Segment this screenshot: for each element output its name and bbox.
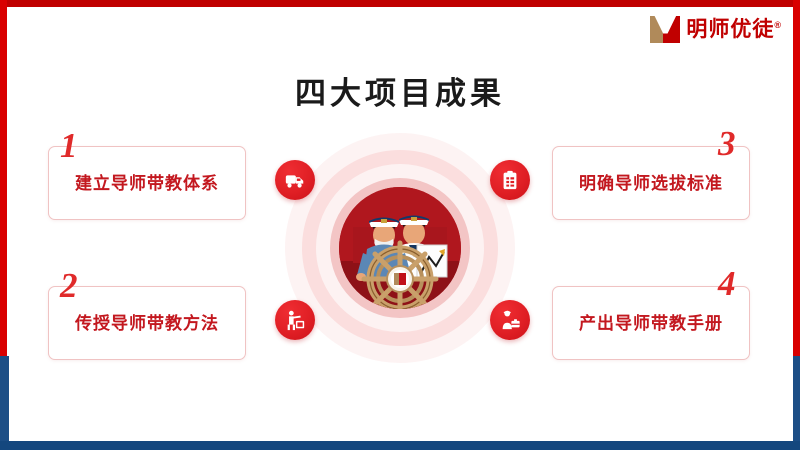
result-card-1-label: 建立导师带教体系 [49, 169, 245, 194]
result-card-4-label: 产出导师带教手册 [553, 309, 749, 334]
bus-icon [284, 169, 306, 191]
result-card-3-label: 明确导师选拔标准 [553, 169, 749, 194]
registered-mark: ® [774, 20, 782, 30]
brand-logo: 明师优徒® [644, 7, 788, 51]
clipboard-icon [499, 169, 521, 191]
icon-badge-clipboard[interactable] [490, 160, 530, 200]
result-card-3-number: 3 [718, 126, 736, 161]
helm-photo-icon [339, 187, 461, 309]
frame-border-top [0, 0, 800, 7]
lm-monogram-icon [650, 16, 680, 43]
person-briefcase-icon [499, 309, 521, 331]
brand-name-text: 明师优徒 [686, 18, 774, 41]
brand-name: 明师优徒® [686, 19, 782, 40]
result-card-2-number: 2 [60, 268, 78, 303]
slide-canvas: 明师优徒® 四大项目成果 [0, 0, 800, 450]
frame-border-bottom [0, 441, 800, 450]
result-card-1-number: 1 [60, 128, 78, 163]
result-card-4-number: 4 [718, 266, 736, 301]
frame-border-left-red [0, 0, 7, 356]
center-graphic [285, 133, 515, 363]
frame-border-right-navy [793, 356, 800, 450]
result-card-1[interactable]: 建立导师带教体系 [48, 146, 246, 220]
frame-border-left-navy [0, 356, 9, 450]
icon-badge-presenter[interactable] [275, 300, 315, 340]
icon-badge-bus[interactable] [275, 160, 315, 200]
presenter-icon [284, 309, 306, 331]
icon-badge-person-briefcase[interactable] [490, 300, 530, 340]
page-title: 四大项目成果 [0, 68, 800, 113]
frame-border-right-red [793, 0, 800, 356]
result-card-2-label: 传授导师带教方法 [49, 309, 245, 334]
